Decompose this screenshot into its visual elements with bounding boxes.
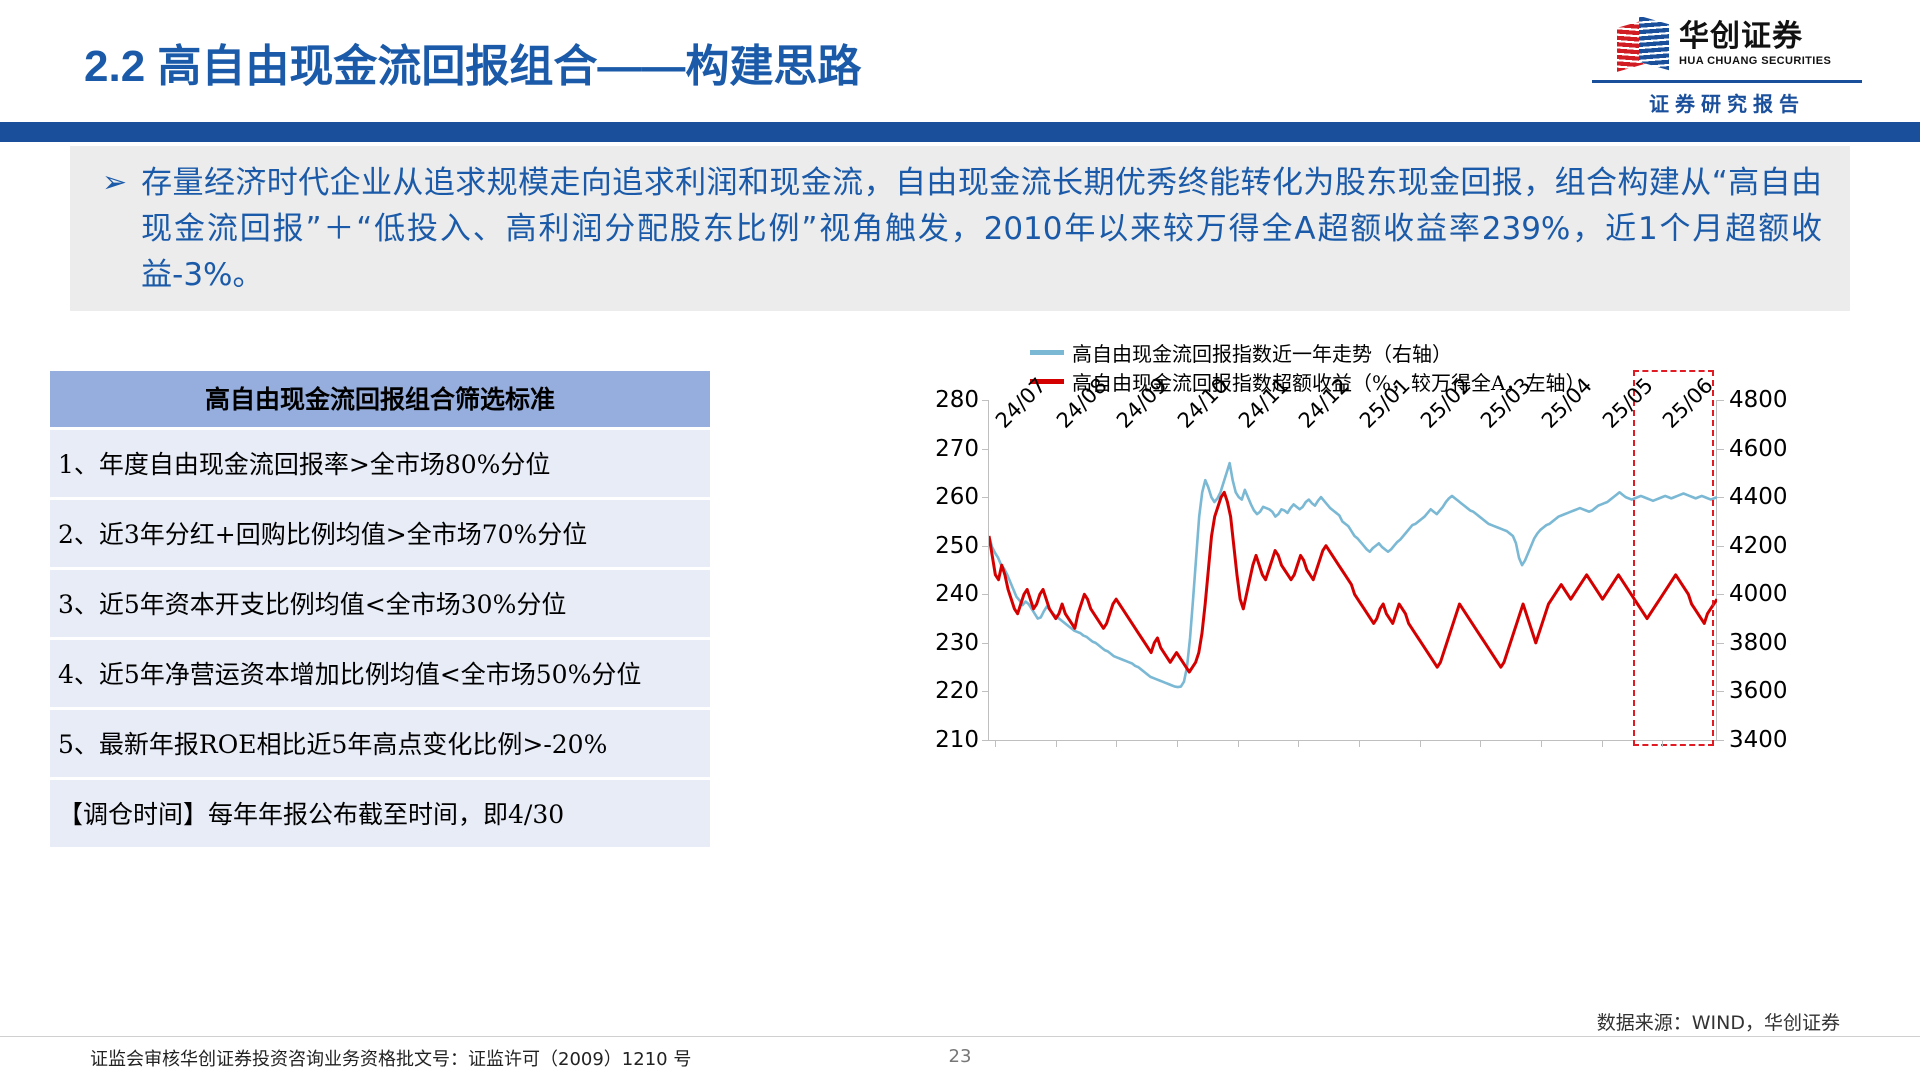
table-row: 3、近5年资本开支比例均值<全市场30%分位: [50, 567, 710, 637]
report-type-label: 证券研究报告: [1592, 88, 1862, 117]
chart-plot-area: 2102202302402502602702803400360038004000…: [988, 400, 1717, 741]
data-source-note: 数据来源：WIND，华创证券: [1597, 1008, 1840, 1035]
slide-header: 2.2 高自由现金流回报组合——构建思路 华创证券 HUA CHUANG SEC…: [0, 0, 1920, 150]
y-axis-left-tick-label: 260: [935, 484, 979, 510]
y-axis-right-tick: [1717, 497, 1724, 498]
y-axis-right-tick: [1717, 594, 1724, 595]
legend-swatch: [1030, 350, 1064, 355]
y-axis-left-tick-label: 270: [935, 436, 979, 462]
logo-text: 华创证券 HUA CHUANG SECURITIES: [1679, 22, 1831, 67]
y-axis-right-tick: [1717, 546, 1724, 547]
x-axis-tick: [1662, 740, 1663, 747]
criteria-table: 高自由现金流回报组合筛选标准 1、年度自由现金流回报率>全市场80%分位 2、近…: [50, 371, 710, 847]
logo-chinese-name: 华创证券: [1679, 22, 1831, 52]
y-axis-left-tick: [982, 691, 989, 692]
y-axis-right-tick: [1717, 740, 1724, 741]
x-axis-tick: [1056, 740, 1057, 747]
legend-item: 高自由现金流回报指数近一年走势（右轴）: [1030, 338, 1860, 367]
y-axis-left-tick: [982, 400, 989, 401]
header-rule: [0, 122, 1920, 142]
y-axis-right-tick-label: 3600: [1729, 678, 1788, 704]
x-axis-tick: [1480, 740, 1481, 747]
y-axis-left-tick: [982, 449, 989, 450]
y-axis-left-tick: [982, 594, 989, 595]
y-axis-left-tick: [982, 497, 989, 498]
y-axis-left-tick-label: 230: [935, 630, 979, 656]
x-axis-tick: [1602, 740, 1603, 747]
y-axis-left-tick: [982, 643, 989, 644]
chart-series-svg: [989, 400, 1717, 740]
table-row: 5、最新年报ROE相比近5年高点变化比例>-20%: [50, 707, 710, 777]
logo-english-name: HUA CHUANG SECURITIES: [1679, 55, 1831, 67]
page-number: 23: [0, 1046, 1920, 1067]
y-axis-right-tick-label: 4200: [1729, 533, 1788, 559]
table-row: 2、近3年分红+回购比例均值>全市场70%分位: [50, 497, 710, 567]
table-row: 【调仓时间】每年年报公布截至时间，即4/30: [50, 777, 710, 847]
y-axis-left-tick-label: 250: [935, 533, 979, 559]
cube-blue-face: [1639, 15, 1669, 70]
y-axis-right-tick-label: 4400: [1729, 484, 1788, 510]
y-axis-right-tick-label: 4800: [1729, 387, 1788, 413]
summary-callout: ➢ 存量经济时代企业从追求规模走向追求利润和现金流，自由现金流长期优秀终能转化为…: [70, 146, 1850, 311]
y-axis-right-tick: [1717, 400, 1724, 401]
y-axis-right-tick-label: 3400: [1729, 727, 1788, 753]
x-axis-tick: [1359, 740, 1360, 747]
y-axis-left-tick: [982, 740, 989, 741]
callout-inner: ➢ 存量经济时代企业从追求规模走向追求利润和现金流，自由现金流长期优秀终能转化为…: [102, 160, 1822, 298]
page-title: 2.2 高自由现金流回报组合——构建思路: [84, 30, 861, 94]
y-axis-left-tick-label: 240: [935, 581, 979, 607]
x-axis-tick: [1298, 740, 1299, 747]
y-axis-right-tick: [1717, 643, 1724, 644]
y-axis-right-tick-label: 4000: [1729, 581, 1788, 607]
y-axis-right-tick: [1717, 449, 1724, 450]
y-axis-right-tick: [1717, 691, 1724, 692]
table-row: 1、年度自由现金流回报率>全市场80%分位: [50, 427, 710, 497]
x-axis-tick: [1541, 740, 1542, 747]
index-performance-chart: 高自由现金流回报指数近一年走势（右轴）高自由现金流回报指数超额收益（%，较万得全…: [900, 400, 1860, 870]
table-row: 4、近5年净营运资本增加比例均值<全市场50%分位: [50, 637, 710, 707]
bullet-arrow-icon: ➢: [102, 160, 127, 298]
y-axis-left-tick-label: 210: [935, 727, 979, 753]
criteria-table-header: 高自由现金流回报组合筛选标准: [50, 371, 710, 427]
x-axis-tick: [1177, 740, 1178, 747]
x-axis-tick: [1420, 740, 1421, 747]
chart-series-line: [989, 463, 1717, 687]
x-axis-tick: [1116, 740, 1117, 747]
logo-divider: [1592, 80, 1862, 83]
y-axis-right-tick-label: 4600: [1729, 436, 1788, 462]
footer-divider: [0, 1036, 1920, 1037]
y-axis-left-tick-label: 280: [935, 387, 979, 413]
y-axis-left-tick-label: 220: [935, 678, 979, 704]
y-axis-left-tick: [982, 546, 989, 547]
y-axis-right-tick-label: 3800: [1729, 630, 1788, 656]
company-logo: 华创证券 HUA CHUANG SECURITIES 证券研究报告: [1562, 22, 1892, 120]
x-axis-tick: [995, 740, 996, 747]
x-axis-tick: [1238, 740, 1239, 747]
legend-label: 高自由现金流回报指数近一年走势（右轴）: [1072, 338, 1452, 367]
callout-text: 存量经济时代企业从追求规模走向追求利润和现金流，自由现金流长期优秀终能转化为股东…: [141, 160, 1822, 298]
cube-logo-icon: [1617, 23, 1669, 67]
logo-row: 华创证券 HUA CHUANG SECURITIES: [1617, 22, 1831, 67]
